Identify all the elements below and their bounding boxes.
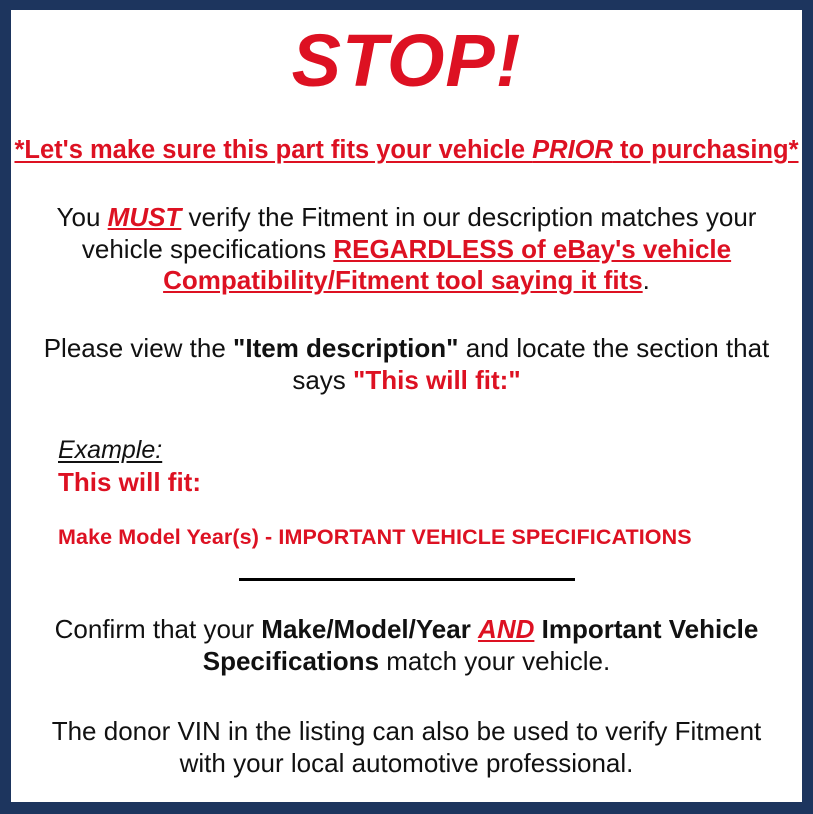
must-seg-1: You xyxy=(57,202,108,232)
must-emphasis: MUST xyxy=(108,202,182,232)
subtitle-prefix: *Let's make sure this part fits your veh… xyxy=(14,136,532,164)
make-model-year-label: Make/Model/Year xyxy=(261,614,478,644)
fitment-notice-card: STOP! *Let's make sure this part fits yo… xyxy=(11,10,802,802)
example-block: Example: This will fit: Make Model Year(… xyxy=(11,397,802,551)
section-divider xyxy=(239,578,575,581)
item-description-paragraph: Please view the "Item description" and l… xyxy=(11,297,802,396)
subtitle-line: *Let's make sure this part fits your veh… xyxy=(11,98,802,164)
and-emphasis: AND xyxy=(478,614,534,644)
confirm-paragraph: Confirm that your Make/Model/Year AND Im… xyxy=(11,602,802,677)
thanks-line: Thank you for confirming Fitment! xyxy=(11,779,802,802)
example-spec-line: Make Model Year(s) - IMPORTANT VEHICLE S… xyxy=(58,499,802,551)
item-description-label: "Item description" xyxy=(233,333,458,363)
notice-border-frame: STOP! *Let's make sure this part fits yo… xyxy=(0,0,813,814)
confirm-seg-5: match your vehicle. xyxy=(379,646,610,676)
example-label: Example: xyxy=(58,436,802,465)
this-will-fit-quote: "This will fit:" xyxy=(353,365,521,395)
example-fit-line: This will fit: xyxy=(58,464,802,498)
must-verify-paragraph: You MUST verify the Fitment in our descr… xyxy=(11,164,802,297)
confirm-seg-1: Confirm that your xyxy=(55,614,262,644)
divider-wrapper xyxy=(11,550,802,602)
stop-heading: STOP! xyxy=(11,10,802,98)
vin-paragraph: The donor VIN in the listing can also be… xyxy=(11,678,802,779)
must-seg-5: . xyxy=(643,265,650,295)
view-seg-1: Please view the xyxy=(44,333,233,363)
subtitle-emphasis-prior: PRIOR xyxy=(532,136,613,164)
subtitle-suffix: to purchasing* xyxy=(613,136,799,164)
